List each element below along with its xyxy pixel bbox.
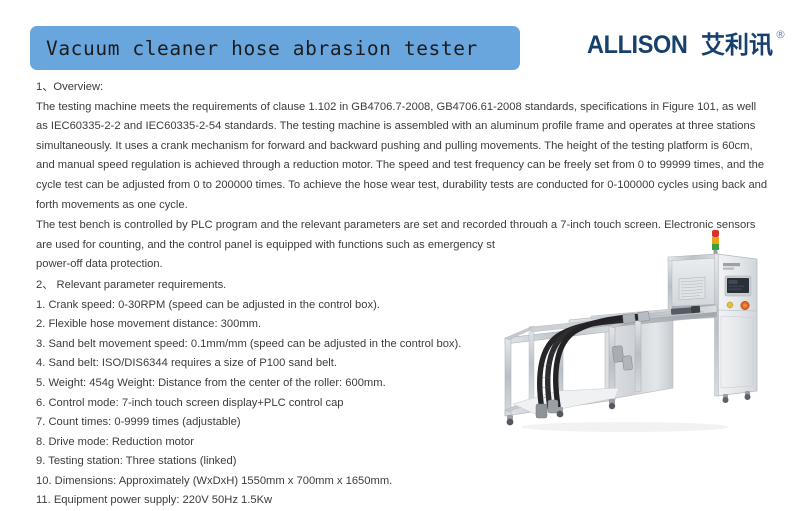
touch-screen — [725, 276, 751, 296]
parameter-item: 9. Testing station: Three stations (link… — [36, 452, 770, 472]
page-title-banner: Vacuum cleaner hose abrasion tester — [30, 26, 520, 70]
logo-chinese-name: 艾利讯 — [701, 33, 773, 57]
logo-wordmark: ALLISON — [587, 33, 688, 58]
test-sheet — [679, 277, 705, 300]
parameter-item: 11. Equipment power supply: 220V 50Hz 1.… — [36, 491, 770, 511]
control-cabinet — [715, 254, 758, 396]
page-header: Vacuum cleaner hose abrasion tester ALLI… — [0, 0, 800, 76]
overview-paragraph: The testing machine meets the requiremen… — [36, 98, 770, 216]
registered-trademark-icon: ® — [775, 29, 786, 40]
machine-photograph — [495, 228, 795, 448]
brand-logo: ALLISON 艾利讯 ® — [587, 33, 786, 58]
page-title: Vacuum cleaner hose abrasion tester — [30, 37, 478, 60]
overview-heading: 1、Overview: — [36, 78, 770, 98]
parameter-item: 10. Dimensions: Approximately (WxDxH) 15… — [36, 472, 770, 492]
